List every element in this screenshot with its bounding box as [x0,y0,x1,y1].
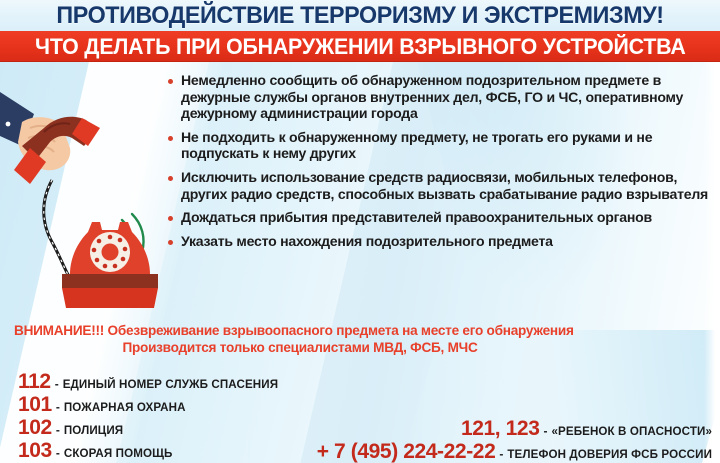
emergency-row: 112 - ЕДИНЫЙ НОМЕР СЛУЖБ СПАСЕНИЯ [18,371,438,394]
emergency-row: + 7 (495) 224-22-22 - ТЕЛЕФОН ДОВЕРИЯ ФС… [242,441,712,463]
list-item: Немедленно сообщить об обнаруженном подо… [168,72,714,122]
bullet-dot-icon [168,240,173,245]
emergency-dash: - [56,446,60,460]
emergency-number: 112 [18,371,51,392]
emergency-row: 101 - ПОЖАРНАЯ ОХРАНА [18,394,438,417]
poster-title-band: ПРОТИВОДЕЙСТВИЕ ТЕРРОРИЗМУ И ЭКСТРЕМИЗМУ… [0,0,720,31]
emergency-dash: - [56,400,60,414]
instruction-text: Указать место нахождения подозрительного… [181,233,714,250]
instruction-text: Немедленно сообщить об обнаруженном подо… [181,72,714,122]
bullet-dot-icon [168,176,173,181]
emergency-dash: - [543,424,547,438]
bullet-dot-icon [168,79,173,84]
instruction-text: Не подходить к обнаруженному предмету, н… [181,129,714,162]
phone-cord-icon [44,180,74,284]
emergency-label: ТЕЛЕФОН ДОВЕРИЯ ФСБ РОССИИ [507,449,712,461]
emergency-number: 102 [18,417,52,438]
bullet-dot-icon [168,216,173,221]
emergency-dash: - [499,447,503,461]
telephone-illustration [0,62,168,324]
emergency-number: 121, 123 [461,418,540,439]
emergency-label: СКОРАЯ ПОМОЩЬ [64,448,173,460]
emergency-number: + 7 (495) 224-22-22 [317,441,496,462]
emergency-numbers-right: 121, 123 - «РЕБЕНОК В ОПАСНОСТИ» + 7 (49… [242,418,712,463]
emergency-label: ЕДИНЫЙ НОМЕР СЛУЖБ СПАСЕНИЯ [63,379,278,391]
list-item: Исключить использование средств радиосвя… [168,169,714,202]
attention-block: ВНИМАНИЕ!!! Обезвреживание взрывоопасног… [0,322,720,356]
emergency-label: «РЕБЕНОК В ОПАСНОСТИ» [551,426,712,438]
list-item: Указать место нахождения подозрительного… [168,233,714,250]
emergency-label: ПОЖАРНАЯ ОХРАНА [64,402,186,414]
emergency-label: ПОЛИЦИЯ [64,425,123,437]
poster-title: ПРОТИВОДЕЙСТВИЕ ТЕРРОРИЗМУ И ЭКСТРЕМИЗМУ… [56,4,663,28]
emergency-number: 101 [18,394,52,415]
poster-subtitle-band: ЧТО ДЕЛАТЬ ПРИ ОБНАРУЖЕНИИ ВЗРЫВНОГО УСТ… [0,31,720,62]
attention-line-2: Производится только специалистами МВД, Ф… [0,339,720,356]
list-item: Не подходить к обнаруженному предмету, н… [168,129,714,162]
list-item: Дождаться прибытия представителей правоо… [168,209,714,226]
emergency-number: 103 [18,440,52,461]
poster-subtitle: ЧТО ДЕЛАТЬ ПРИ ОБНАРУЖЕНИИ ВЗРЫВНОГО УСТ… [35,36,685,58]
bullet-dot-icon [168,136,173,141]
poster-root: ПРОТИВОДЕЙСТВИЕ ТЕРРОРИЗМУ И ЭКСТРЕМИЗМУ… [0,0,720,463]
attention-line-1: ВНИМАНИЕ!!! Обезвреживание взрывоопасног… [0,322,720,339]
emergency-dash: - [56,423,60,437]
emergency-dash: - [55,377,59,391]
cufflink-icon [6,122,11,127]
instruction-text: Исключить использование средств радиосвя… [181,169,714,202]
instruction-text: Дождаться прибытия представителей правоо… [181,209,714,226]
instruction-list: Немедленно сообщить об обнаруженном подо… [168,72,714,256]
emergency-row: 121, 123 - «РЕБЕНОК В ОПАСНОСТИ» [242,418,712,441]
